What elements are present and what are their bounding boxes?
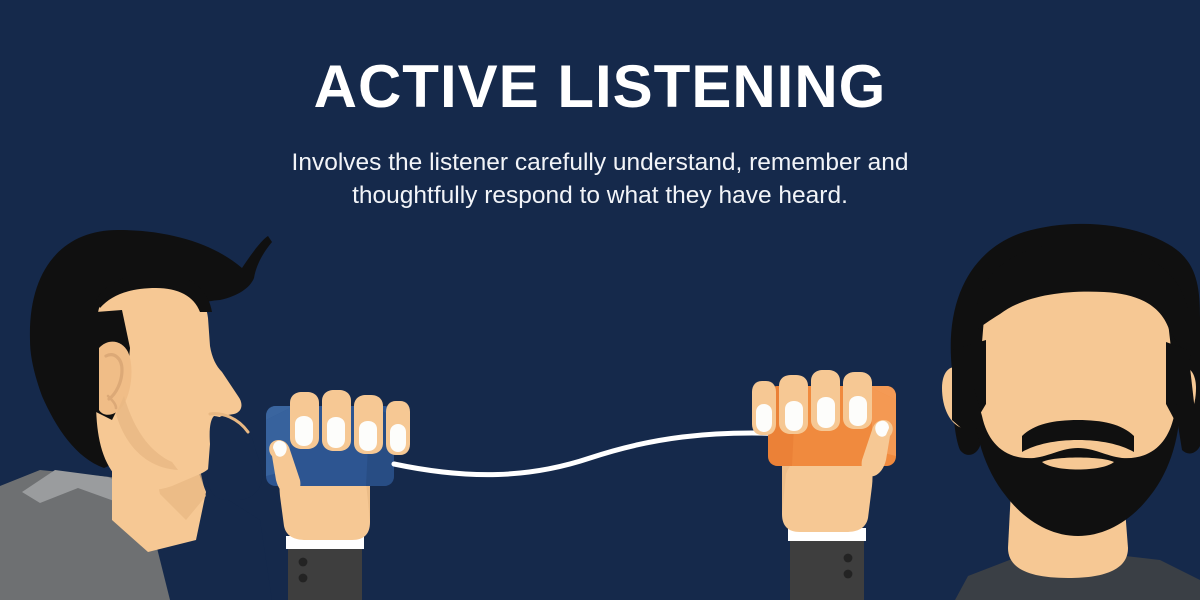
- right-finger-1-nail: [849, 396, 867, 426]
- left-sleeve: [288, 546, 362, 600]
- left-finger-1-nail: [295, 416, 313, 446]
- right-finger-3-nail: [785, 401, 803, 431]
- active-listening-illustration: [0, 0, 1200, 600]
- left-finger-4-nail: [390, 424, 406, 452]
- right-sleeve: [790, 540, 864, 600]
- left-sleeve-button-top: [299, 558, 308, 567]
- left-finger-2-nail: [327, 417, 345, 448]
- illustration-canvas: ACTIVE LISTENING Involves the listener c…: [0, 0, 1200, 600]
- right-sleeve-button-bottom: [844, 570, 853, 579]
- right-sleeve-button-top: [844, 554, 853, 563]
- left-sleeve-button-bottom: [299, 574, 308, 583]
- right-finger-4-nail: [756, 404, 772, 432]
- left-finger-3-nail: [359, 421, 377, 451]
- right-finger-2-nail: [817, 397, 835, 428]
